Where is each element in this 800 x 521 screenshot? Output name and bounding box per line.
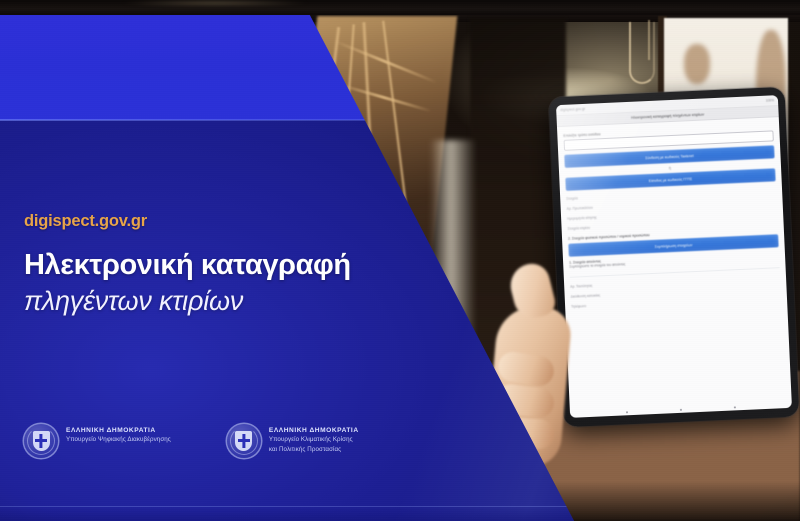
dot-1 xyxy=(626,411,629,414)
wall-stain-1 xyxy=(684,44,710,84)
logo-subtitle-line2-2: και Πολιτικής Προστασίας xyxy=(269,446,359,455)
banner-subheadline: πληγέντων κτιρίων xyxy=(24,286,243,317)
hanging-wire-icon xyxy=(629,22,655,84)
dot-3 xyxy=(734,406,737,409)
logo-title: ΕΛΛΗΝΙΚΗ ΔΗΜΟΚΡΑΤΙΑ xyxy=(66,427,171,434)
hellenic-republic-crest-icon-2 xyxy=(227,424,261,458)
battery-indicator: 100% xyxy=(766,98,774,102)
logo-ministry-digital-governance: ΕΛΛΗΝΙΚΗ ΔΗΜΟΚΡΑΤΙΑ Υπουργείο Ψηφιακής Δ… xyxy=(24,424,171,458)
logo-ministry-climate-crisis: ΕΛΛΗΝΙΚΗ ΔΗΜΟΚΡΑΤΙΑ Υπουργείο Κλιματικής… xyxy=(227,424,359,458)
hellenic-republic-crest-icon xyxy=(24,424,58,458)
tablet-screen[interactable]: digispect.gov.gr 100% Ηλεκτρονική καταγρ… xyxy=(556,95,792,418)
logo-text-block: ΕΛΛΗΝΙΚΗ ΔΗΜΟΚΡΑΤΙΑ Υπουργείο Ψηφιακής Δ… xyxy=(66,424,171,444)
site-url[interactable]: digispect.gov.gr xyxy=(24,212,147,231)
browser-url[interactable]: digispect.gov.gr xyxy=(560,107,585,112)
top-bar-sheen xyxy=(120,1,310,5)
shield-icon xyxy=(33,431,50,451)
banner-screenshot: digispect.gov.gr 100% Ηλεκτρονική καταγρ… xyxy=(0,0,800,521)
logo-subtitle-line1-2: Υπουργείο Κλιματικής Κρίσης xyxy=(269,436,359,445)
logo-text-block-2: ΕΛΛΗΝΙΚΗ ΔΗΜΟΚΡΑΤΙΑ Υπουργείο Κλιματικής… xyxy=(269,424,359,455)
logo-subtitle-line1: Υπουργείο Ψηφιακής Διακυβέρνησης xyxy=(66,436,171,445)
bottom-indicator-dots xyxy=(570,403,792,416)
photo-top-dark-bar xyxy=(0,0,800,15)
shield-icon-2 xyxy=(235,431,252,451)
form-body: Επιλέξτε τρόπο εισόδου Σύνδεση με κωδικο… xyxy=(557,117,787,309)
dot-2 xyxy=(680,408,683,411)
banner-headline: Ηλεκτρονική καταγραφή xyxy=(24,249,351,282)
logo-title-2: ΕΛΛΗΝΙΚΗ ΔΗΜΟΚΡΑΤΙΑ xyxy=(269,427,359,434)
hanging-wire-2 xyxy=(648,20,650,60)
panel-bottom-fade xyxy=(0,507,620,521)
footer-logos: ΕΛΛΗΝΙΚΗ ΔΗΜΟΚΡΑΤΙΑ Υπουργείο Ψηφιακής Δ… xyxy=(24,424,359,458)
